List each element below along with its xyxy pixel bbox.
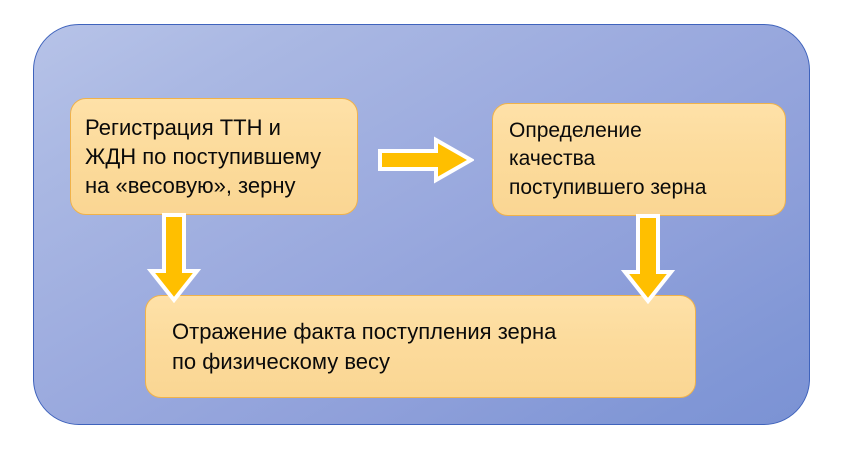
process-box-registration-label: Регистрация ТТН и ЖДН по поступившему на… bbox=[85, 113, 343, 201]
arrow-right-icon bbox=[378, 136, 474, 184]
arrow-down-icon bbox=[620, 214, 676, 304]
process-box-registration[interactable]: Регистрация ТТН и ЖДН по поступившему на… bbox=[70, 98, 358, 215]
process-box-quality[interactable]: Определение качества поступившего зерна bbox=[492, 103, 786, 216]
process-diagram: Регистрация ТТН и ЖДН по поступившему на… bbox=[0, 0, 858, 472]
arrow-down-icon bbox=[146, 213, 202, 303]
process-box-reflection-label: Отражение факта поступления зерна по физ… bbox=[172, 317, 677, 376]
process-box-reflection[interactable]: Отражение факта поступления зерна по физ… bbox=[145, 295, 696, 398]
process-box-quality-label: Определение качества поступившего зерна bbox=[509, 117, 773, 203]
